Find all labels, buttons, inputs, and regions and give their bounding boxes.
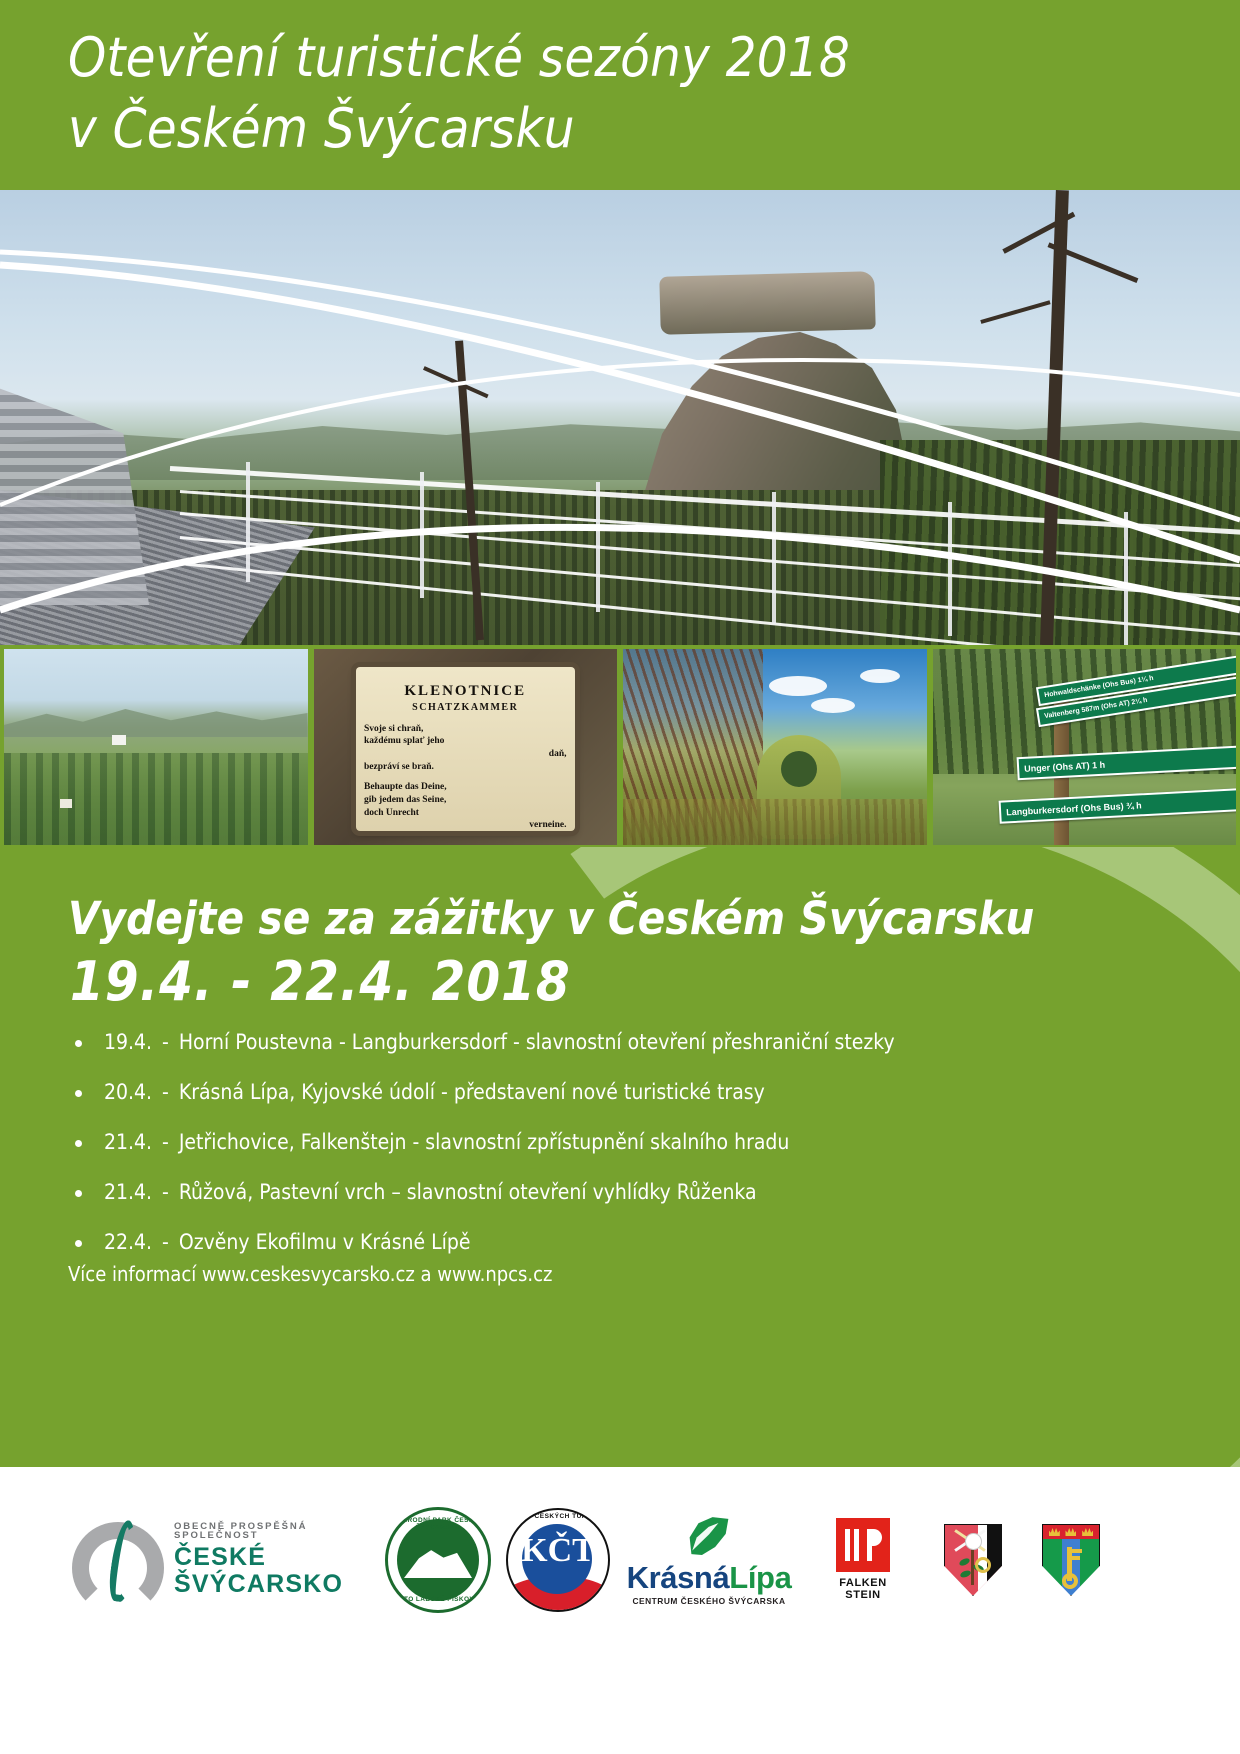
thumb-hill (4, 697, 308, 737)
shield-shape (1042, 1524, 1100, 1596)
rose-icon (965, 1533, 982, 1550)
ops-wordmark: OBECNĚ PROSPĚŠNÁ SPOLEČNOST ČESKÉ ŠVÝCAR… (174, 1522, 362, 1599)
crown-icon (1065, 1528, 1076, 1536)
event-dash: - (160, 1132, 179, 1153)
thumbnail-turisticke-rozcestniky: Hohwaldschänke (Ohs Bus) 1¼ h Valtenberg… (933, 649, 1237, 845)
shield-shape (944, 1524, 1002, 1596)
railing-post (1124, 512, 1128, 645)
hero-photo (0, 190, 1240, 645)
thumbnail-klenotnice-deska: KLENOTNICE SCHATZKAMMER Svoje si chraň, … (314, 649, 618, 845)
thumbnail-socha-v-krajine (623, 649, 927, 845)
plaque-czech-text: Svoje si chraň, každému splať jeho daň, … (356, 723, 575, 774)
event-date: 21.4. (104, 1182, 160, 1203)
coat-of-arms-icon (944, 1524, 1002, 1596)
plaque-line: Behaupte das Deine, (364, 781, 567, 794)
logo-falkenstein: FALKEN STEIN (820, 1500, 906, 1620)
logo-klub-ceskych-turistu: KČT KLUB ČESKÝCH TURISTŮ (504, 1500, 612, 1620)
ops-line1: OBECNĚ PROSPĚŠNÁ SPOLEČNOST (174, 1522, 362, 1541)
cloud (769, 676, 827, 696)
seal-bottom-text: ČISTO LABSKÉ PÍSKOVCE (388, 1596, 488, 1603)
railing-post (948, 502, 952, 636)
plaque-german-text: Behaupte das Deine, gib jedem das Seine,… (356, 781, 575, 832)
main-headline: Vydejte se za zážitky v Českém Švýcarsku (68, 892, 1034, 945)
coat-of-arms-icon (1042, 1524, 1100, 1596)
event-text: Jetřichovice, Falkenštejn - slavnostní z… (179, 1130, 790, 1154)
railing-post (246, 462, 250, 582)
word-krasna: Krásná (627, 1560, 730, 1595)
plaque-line: bezpráví se braň. (364, 761, 567, 774)
plaque-line: gib jedem das Seine, (364, 794, 567, 807)
crowns-row (1043, 1528, 1099, 1536)
plaque-line: Svoje si chraň, (364, 723, 567, 736)
key-ring (1062, 1573, 1078, 1589)
logo-krasna-lipa: KrásnáLípa CENTRUM ČESKÉHO ŠVÝCARSKA (634, 1500, 784, 1620)
stone-plaque: KLENOTNICE SCHATZKAMMER Svoje si chraň, … (356, 667, 575, 832)
logo-znak-obce-ruzova (936, 1500, 1010, 1620)
logo-narodni-park-ceske-svycarsko: NÁRODNÍ PARK ČESKÉ ŠVÝCARSKO ČISTO LABSK… (384, 1500, 492, 1620)
hero-rock-cap (659, 271, 875, 335)
falkenstein-line2: STEIN (839, 1590, 887, 1602)
plaque-line: doch Unrecht (364, 807, 567, 820)
event-dash: - (160, 1232, 179, 1253)
leaf-icon (687, 1515, 731, 1559)
word-lipa: Lípa (729, 1560, 791, 1595)
bars-shape (845, 1529, 859, 1561)
list-item: 21.4.-Jetřichovice, Falkenštejn - slavno… (68, 1132, 1048, 1153)
plaque-line: daň, (364, 748, 567, 761)
sculpture-opening (781, 751, 817, 787)
thumb-grass (623, 799, 927, 845)
crown-icon (1082, 1528, 1093, 1536)
thumbnail-strip: KLENOTNICE SCHATZKAMMER Svoje si chraň, … (0, 645, 1240, 847)
falkenstein-lockup: FALKEN STEIN (836, 1518, 890, 1601)
falkenstein-mark-icon (836, 1518, 890, 1572)
plaque-subtitle: SCHATZKAMMER (356, 702, 575, 713)
partner-logos: OBECNĚ PROSPĚŠNÁ SPOLEČNOST ČESKÉ ŠVÝCAR… (0, 1485, 1240, 1635)
thumb-house (112, 735, 126, 745)
logo-obecne-prospesna-spolecnost-ceske-svycarsko: OBECNĚ PROSPĚŠNÁ SPOLEČNOST ČESKÉ ŠVÝCAR… (72, 1500, 362, 1620)
trail-sign: Langburkersdorf (Ohs Bus) ¾ h (999, 787, 1236, 823)
kct-badge-icon: KČT KLUB ČESKÝCH TURISTŮ (506, 1508, 610, 1612)
page-title: Otevření turistické sezóny 2018 v Českém… (68, 22, 1168, 165)
event-date: 22.4. (104, 1232, 160, 1253)
list-item: 21.4.-Růžová, Pastevní vrch – slavnostní… (68, 1182, 1048, 1203)
thumb-house (60, 799, 72, 808)
event-dash: - (160, 1082, 179, 1103)
cloud (860, 669, 900, 683)
railing-post (596, 482, 600, 612)
plaque-line: verneine. (364, 819, 567, 832)
crown-icon (1049, 1528, 1060, 1536)
krasna-lipa-wordmark: KrásnáLípa (627, 1562, 792, 1593)
poster: Otevření turistické sezóny 2018 v Českém… (0, 0, 1240, 1754)
event-date: 21.4. (104, 1132, 160, 1153)
poster-header: Otevření turistické sezóny 2018 v Českém… (0, 0, 1240, 190)
seal-top-text: NÁRODNÍ PARK ČESKÉ ŠVÝCARSKO (388, 1517, 488, 1531)
more-info-text: Více informací www.ceskesvycarsko.cz a w… (68, 1262, 552, 1286)
krasna-lipa-lockup: KrásnáLípa CENTRUM ČESKÉHO ŠVÝCARSKA (627, 1515, 792, 1606)
kct-ring-text: KLUB ČESKÝCH TURISTŮ (508, 1510, 608, 1610)
plaque-line: každému splať jeho (364, 735, 567, 748)
ops-line2: ČESKÉ ŠVÝCARSKO (174, 1544, 362, 1599)
falkenstein-wordmark: FALKEN STEIN (839, 1578, 887, 1601)
thumbnail-krajina-s-vesnici (4, 649, 308, 845)
list-item: 20.4.-Krásná Lípa, Kyjovské údolí - před… (68, 1082, 1048, 1103)
krasna-lipa-subtitle: CENTRUM ČESKÉHO ŠVÝCARSKA (632, 1596, 785, 1606)
event-text: Krásná Lípa, Kyjovské údolí - představen… (179, 1080, 765, 1104)
event-dash: - (160, 1182, 179, 1203)
logo-znak-obce-jetrichovice (1034, 1500, 1108, 1620)
list-item: 22.4.-Ozvěny Ekofilmu v Krásné Lípě (68, 1232, 1048, 1253)
p-shape (867, 1529, 882, 1561)
list-item: 19.4.-Horní Poustevna - Langburkersdorf … (68, 1032, 1048, 1053)
event-list: 19.4.-Horní Poustevna - Langburkersdorf … (68, 1032, 1048, 1282)
key-bit (1072, 1556, 1080, 1560)
plaque-title: KLENOTNICE (356, 683, 575, 700)
kct-ring-top: KLUB ČESKÝCH TURISTŮ (508, 1513, 608, 1520)
event-dash: - (160, 1032, 179, 1053)
event-text: Ozvěny Ekofilmu v Krásné Lípě (179, 1230, 471, 1254)
event-text: Růžová, Pastevní vrch – slavnostní otevř… (179, 1180, 757, 1204)
leaf-icon (959, 1569, 971, 1578)
main-content-section: Vydejte se za zážitky v Českém Švýcarsku… (0, 847, 1240, 1467)
key-bit (1072, 1549, 1082, 1553)
seal-ring-text: NÁRODNÍ PARK ČESKÉ ŠVÝCARSKO ČISTO LABSK… (388, 1510, 488, 1610)
event-date: 19.4. (104, 1032, 160, 1053)
poster-footer: OBECNĚ PROSPĚŠNÁ SPOLEČNOST ČESKÉ ŠVÝCAR… (0, 1467, 1240, 1754)
event-text: Horní Poustevna - Langburkersdorf - slav… (179, 1030, 895, 1054)
thumb-forest (4, 753, 308, 845)
railing-post (420, 472, 424, 598)
event-dateline: 19.4. - 22.4. 2018 (70, 950, 571, 1013)
arch-icon (72, 1518, 164, 1602)
wheel-icon (975, 1557, 991, 1573)
event-date: 20.4. (104, 1082, 160, 1103)
seal-icon: NÁRODNÍ PARK ČESKÉ ŠVÝCARSKO ČISTO LABSK… (385, 1507, 491, 1613)
leaf-icon (958, 1557, 971, 1567)
cloud (811, 698, 855, 713)
railing-post (772, 492, 776, 624)
